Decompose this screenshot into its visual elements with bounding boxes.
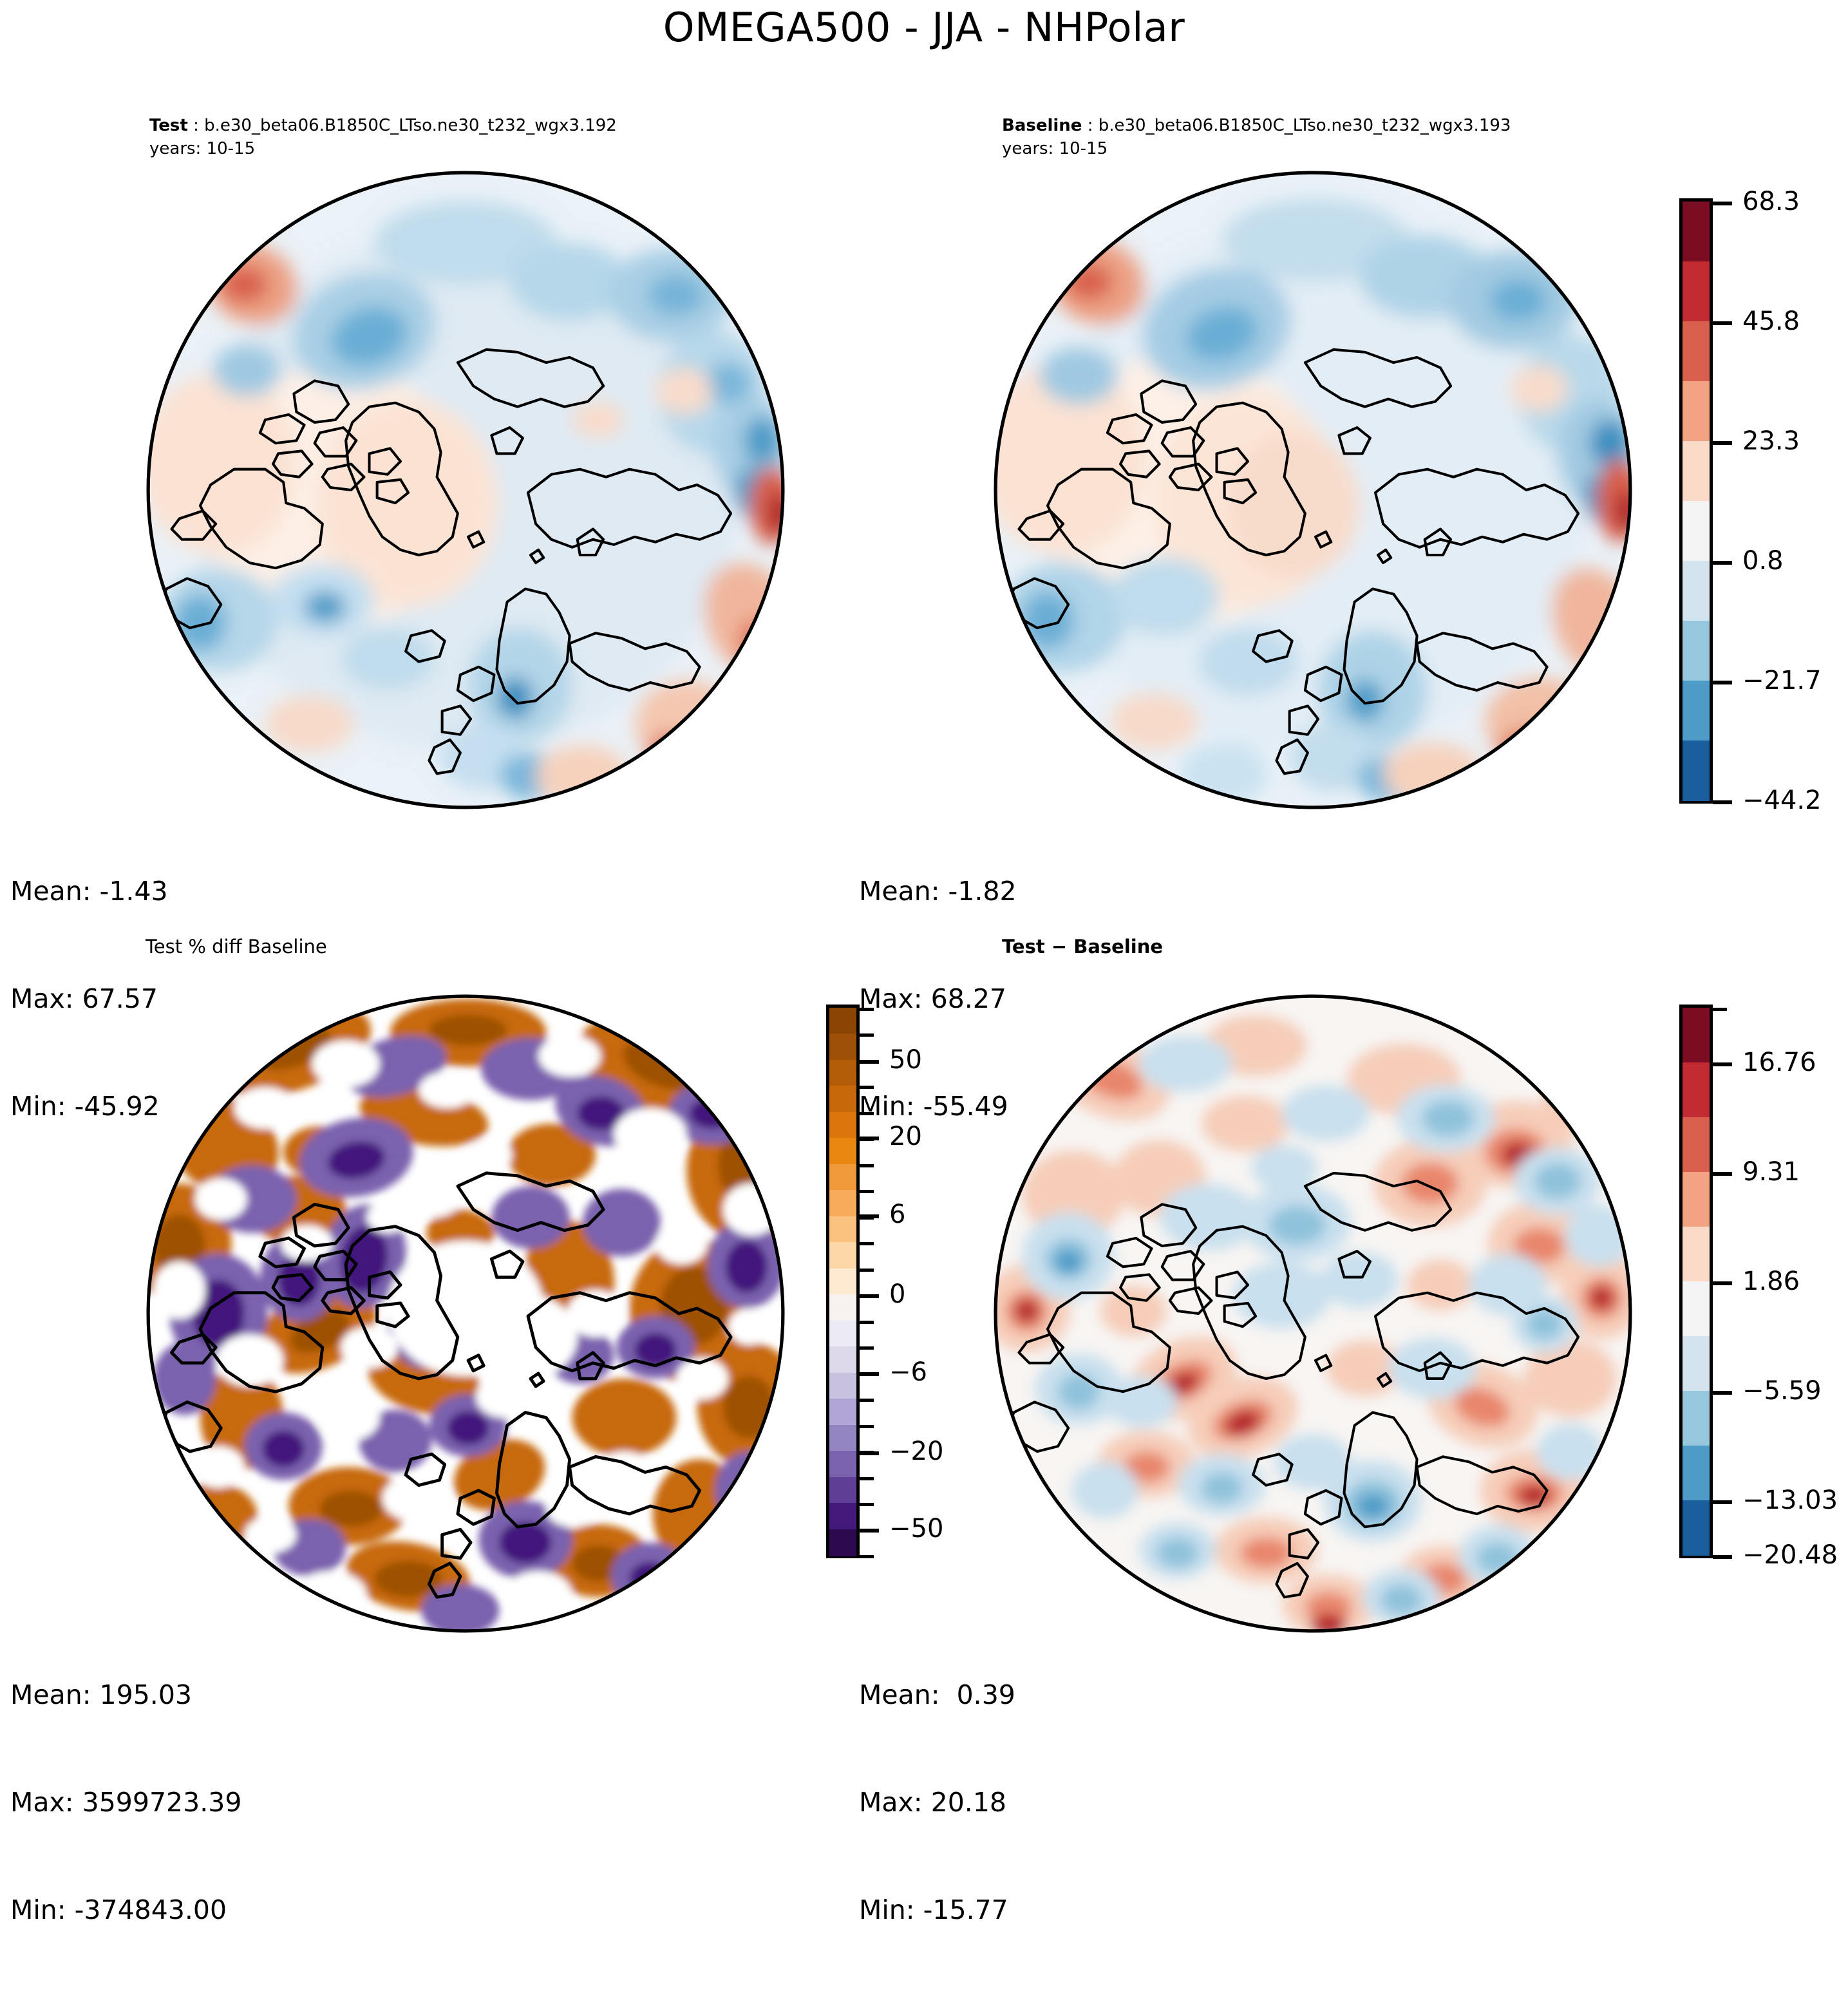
colorbar-tick-label: 9.31 [1742, 1157, 1800, 1187]
colorbar-segment [1683, 1391, 1710, 1446]
colorbar-tick-major [1713, 1281, 1732, 1285]
colorbar-tick-label: −5.59 [1742, 1376, 1822, 1406]
colorbar-tick-label: 1.86 [1742, 1267, 1800, 1296]
colorbar-tick-label: 45.8 [1742, 307, 1800, 336]
colorbar-segment [829, 1086, 856, 1113]
colorbar-segment [1683, 321, 1710, 382]
colorbar-shared-top: 68.345.823.30.8−21.7−44.2 [1679, 198, 1848, 842]
colorbar-segment [829, 1425, 856, 1452]
colorbar-tick-major [1713, 1062, 1732, 1066]
panel-test-title-years: years: 10-15 [149, 139, 255, 158]
colorbar-segment [1683, 441, 1710, 502]
colorbar-segment [829, 1138, 856, 1165]
colorbar-segment [829, 1112, 856, 1139]
colorbar-segment [829, 1399, 856, 1426]
figure-canvas: OMEGA500 - JJA - NHPolar Test : b.e30_be… [0, 0, 1848, 1717]
panel-diff: Test − Baseline [863, 914, 1848, 1717]
panel-diff-max: Max: 20.18 [859, 1785, 1015, 1821]
panel-test-title-case: b.e30_beta06.B1850C_LTso.ne30_t232_wgx3.… [204, 116, 617, 135]
map-pctdiff [140, 988, 791, 1639]
colorbar-segment [829, 1451, 856, 1478]
colorbar-segment [829, 1269, 856, 1296]
panel-pctdiff-title: Test % diff Baseline [146, 934, 327, 959]
panel-test: Test : b.e30_beta06.B1850C_LTso.ne30_t23… [0, 0, 863, 914]
panel-baseline-title: Baseline : b.e30_beta06.B1850C_LTso.ne30… [1002, 115, 1511, 161]
colorbar-segment [1683, 1227, 1710, 1282]
panel-pctdiff-mean: Mean: 195.03 [10, 1677, 241, 1713]
panel-diff-mean: Mean: 0.39 [859, 1677, 1015, 1713]
panel-baseline-title-years: years: 10-15 [1002, 139, 1108, 158]
colorbar-tick-label: −20.48 [1742, 1540, 1838, 1570]
colorbar-segment [829, 1346, 856, 1373]
colorbar-segment [1683, 1336, 1710, 1392]
colorbar-tick-major [1713, 1555, 1732, 1559]
colorbar-tick-major [1713, 561, 1732, 565]
colorbar-segment [829, 1477, 856, 1504]
colorbar-tick-major [1713, 1391, 1732, 1395]
panel-diff-min: Min: -15.77 [859, 1892, 1015, 1929]
panel-pctdiff-min: Min: -374843.00 [10, 1892, 241, 1929]
colorbar-tick-major [1713, 321, 1732, 325]
colorbar-segment [1683, 741, 1710, 801]
panel-baseline-title-sep: : [1082, 116, 1098, 135]
colorbar-diff-bar[interactable] [1679, 1005, 1713, 1558]
colorbar-tick-label: −13.03 [1742, 1486, 1838, 1515]
panel-baseline-title-bold: Baseline [1002, 116, 1082, 135]
colorbar-segment [1683, 1008, 1710, 1063]
colorbar-diff: 16.769.311.86−5.59−13.03−20.48 [1679, 1005, 1848, 1584]
panel-baseline-mean: Mean: -1.82 [859, 874, 1017, 910]
colorbar-tick-major [1713, 1500, 1732, 1504]
panel-test-title-bold: Test [149, 116, 188, 135]
panel-pctdiff-stats: Mean: 195.03 Max: 3599723.39 Min: -37484… [10, 1605, 241, 2000]
colorbar-segment [1683, 1500, 1710, 1556]
colorbar-tick-label: 0.8 [1742, 546, 1784, 576]
colorbar-tick-label: −44.2 [1742, 786, 1822, 815]
colorbar-shared-top-bar[interactable] [1679, 198, 1713, 804]
colorbar-segment [1683, 501, 1710, 561]
colorbar-segment [829, 1164, 856, 1191]
colorbar-tick-label: −21.7 [1742, 666, 1822, 695]
colorbar-tick-major [1713, 441, 1732, 445]
panel-diff-stats: Mean: 0.39 Max: 20.18 Min: -15.77 [859, 1605, 1015, 2000]
panel-test-mean: Mean: -1.43 [10, 874, 168, 910]
colorbar-segment [829, 1294, 856, 1321]
colorbar-segment [1683, 681, 1710, 741]
colorbar-segment [829, 1008, 856, 1035]
colorbar-segment [1683, 1281, 1710, 1337]
colorbar-tick-major [1713, 800, 1732, 804]
colorbar-segment [829, 1503, 856, 1530]
colorbar-segment [1683, 621, 1710, 681]
panel-diff-title: Test − Baseline [1002, 934, 1163, 959]
panel-pctdiff-max: Max: 3599723.39 [10, 1785, 241, 1821]
panel-test-title-sep: : [188, 116, 204, 135]
colorbar-tick-label: 23.3 [1742, 426, 1800, 456]
colorbar-tick [1713, 1008, 1727, 1011]
map-test [140, 165, 791, 815]
colorbar-tick-major [1713, 681, 1732, 684]
colorbar-segment [1683, 1446, 1710, 1501]
colorbar-segment [1683, 1117, 1710, 1173]
map-diff [988, 988, 1638, 1639]
colorbar-tick-major [1713, 1172, 1732, 1176]
colorbar-segment [1683, 1172, 1710, 1227]
colorbar-tick-label: 16.76 [1742, 1048, 1816, 1077]
colorbar-segment [829, 1060, 856, 1087]
colorbar-segment [1683, 261, 1710, 322]
colorbar-segment [829, 1242, 856, 1269]
panel-baseline-title-case: b.e30_beta06.B1850C_LTso.ne30_t232_wgx3.… [1098, 116, 1511, 135]
colorbar-segment [829, 1373, 856, 1400]
colorbar-pctdiff-bar[interactable] [826, 1005, 860, 1558]
colorbar-segment [829, 1529, 856, 1556]
colorbar-segment [1683, 1062, 1710, 1118]
colorbar-tick-label: 68.3 [1742, 187, 1800, 216]
colorbar-segment [1683, 561, 1710, 621]
colorbar-segment [829, 1216, 856, 1243]
colorbar-segment [829, 1033, 856, 1061]
colorbar-segment [1683, 381, 1710, 442]
panel-test-title: Test : b.e30_beta06.B1850C_LTso.ne30_t23… [149, 115, 617, 161]
colorbar-segment [829, 1321, 856, 1348]
colorbar-tick-major [1713, 202, 1732, 205]
colorbar-segment [829, 1190, 856, 1217]
panel-pctdiff: Test % diff Baseline [0, 914, 863, 1717]
map-baseline [988, 165, 1638, 815]
colorbar-segment [1683, 202, 1710, 262]
